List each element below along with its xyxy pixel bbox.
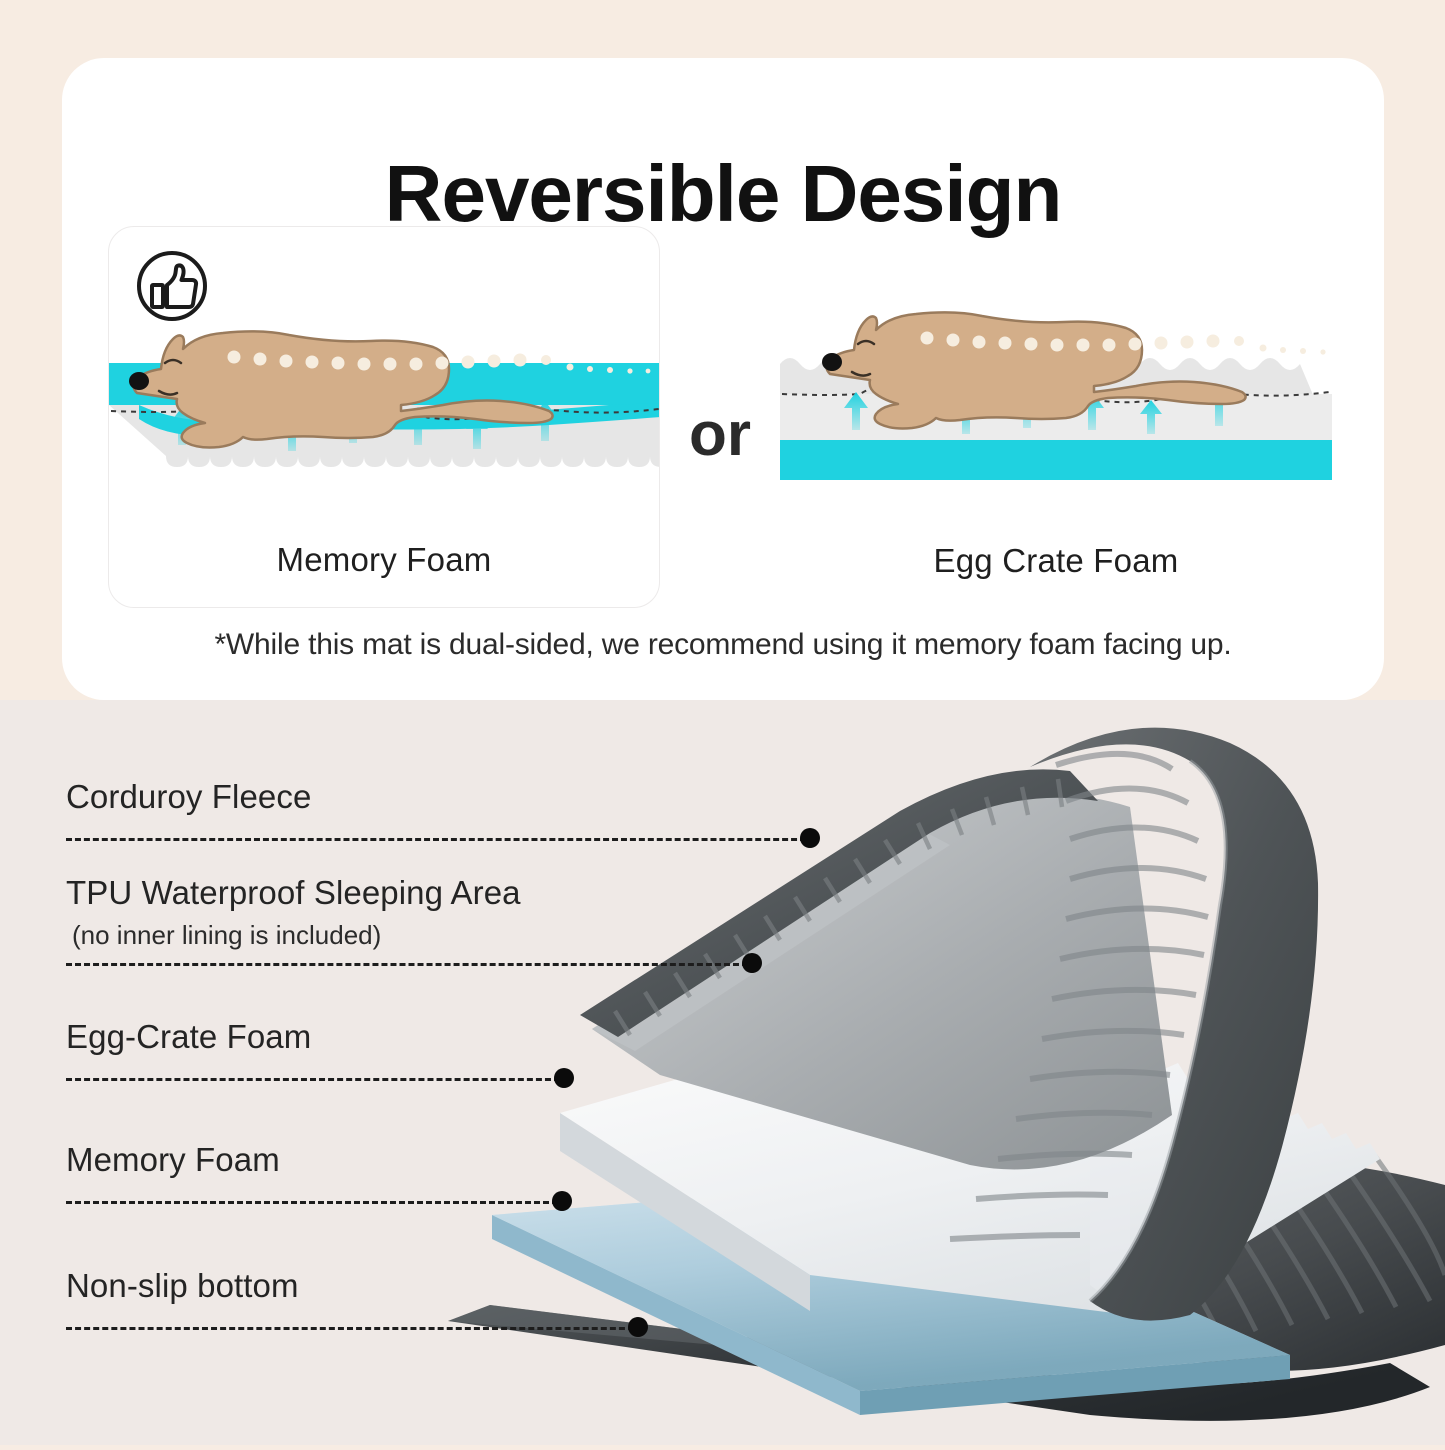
callout-sublabel-tpu-waterproof: (no inner lining is included) [72,920,381,951]
callout-label-corduroy-fleece: Corduroy Fleece [66,778,311,816]
memory-foam-diagram [109,245,659,523]
callout-leader-line [66,1078,560,1081]
callout-dot [554,1068,574,1088]
callout-dot [742,953,762,973]
callout-label-memory-foam: Memory Foam [66,1141,280,1179]
callout-label-tpu-waterproof: TPU Waterproof Sleeping Area [66,874,521,912]
egg-crate-foam-diagram [780,244,1332,522]
panel-label-memory-foam: Memory Foam [109,541,659,579]
callout-label-egg-crate-foam: Egg-Crate Foam [66,1018,311,1056]
panel-label-egg-crate: Egg Crate Foam [780,542,1332,580]
callout-leader-line [66,1201,558,1204]
product-layer-photo [430,715,1445,1445]
callout-leader-line [66,963,748,966]
callout-label-non-slip-bottom: Non-slip bottom [66,1267,299,1305]
reversible-design-card: Reversible Design [62,58,1384,700]
callout-dot [552,1191,572,1211]
callout-dot [800,828,820,848]
page-title: Reversible Design [62,154,1384,234]
card-footnote: *While this mat is dual-sided, we recomm… [62,628,1384,662]
panel-memory-foam: Memory Foam [108,226,660,608]
callout-leader-line [66,838,806,841]
callout-leader-line [66,1327,634,1330]
or-divider: or [660,404,780,466]
panel-egg-crate: Egg Crate Foam [780,226,1332,608]
callout-dot [628,1317,648,1337]
